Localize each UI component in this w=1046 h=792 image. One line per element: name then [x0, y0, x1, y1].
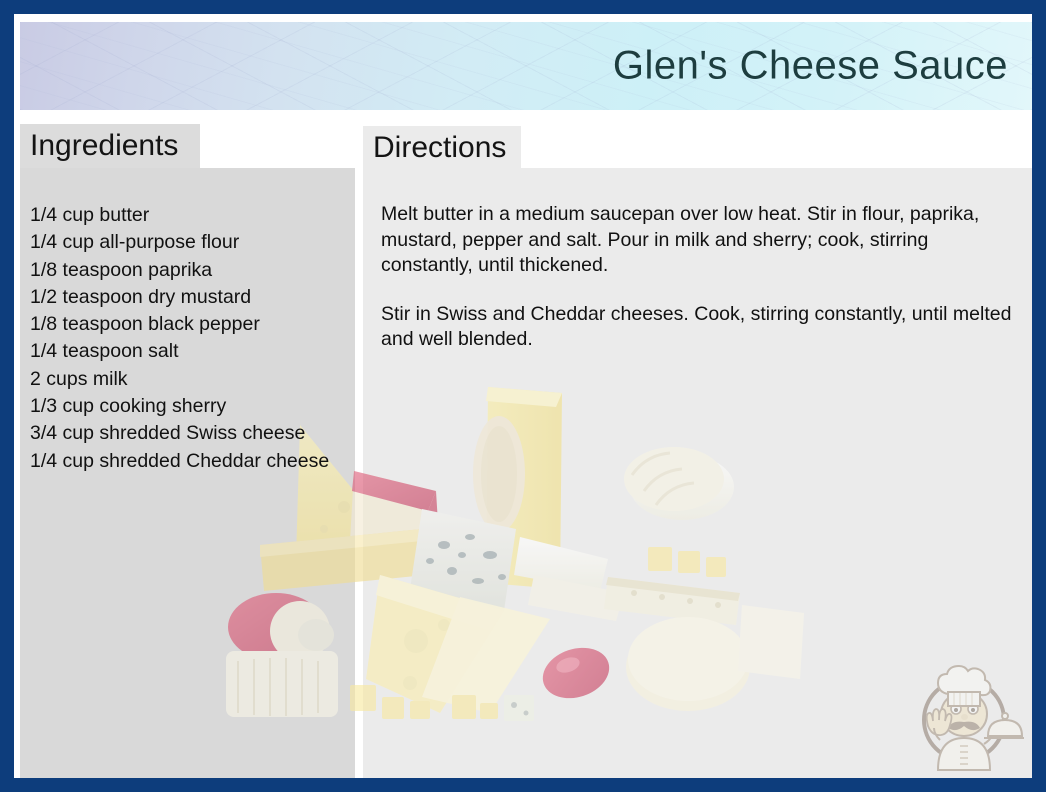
list-item: 1/8 teaspoon paprika	[30, 257, 350, 284]
list-item: 1/4 cup butter	[30, 202, 350, 229]
recipe-slide: Glen's Cheese Sauce Ingredients Directio…	[14, 14, 1032, 778]
directions-heading: Directions	[373, 131, 506, 165]
list-item: 3/4 cup shredded Swiss cheese	[30, 420, 350, 447]
list-item: 1/4 cup shredded Cheddar cheese	[30, 448, 350, 475]
directions-paragraph: Melt butter in a medium saucepan over lo…	[381, 202, 1019, 279]
list-item: 1/4 cup all-purpose flour	[30, 229, 350, 256]
page-title: Glen's Cheese Sauce	[613, 44, 1008, 89]
list-item: 1/4 teaspoon salt	[30, 338, 350, 365]
list-item: 2 cups milk	[30, 366, 350, 393]
tab-ingredients: Ingredients	[20, 124, 200, 168]
chef-mascot-logo	[904, 652, 1024, 772]
list-item: 1/8 teaspoon black pepper	[30, 311, 350, 338]
header-banner: Glen's Cheese Sauce	[20, 22, 1032, 110]
ingredients-heading: Ingredients	[30, 129, 178, 163]
list-item: 1/3 cup cooking sherry	[30, 393, 350, 420]
directions-text: Melt butter in a medium saucepan over lo…	[381, 202, 1019, 353]
directions-paragraph: Stir in Swiss and Cheddar cheeses. Cook,…	[381, 302, 1019, 353]
tab-directions: Directions	[363, 126, 521, 170]
ingredients-panel: 1/4 cup butter 1/4 cup all-purpose flour…	[20, 168, 355, 778]
list-item: 1/2 teaspoon dry mustard	[30, 284, 350, 311]
ingredients-list: 1/4 cup butter 1/4 cup all-purpose flour…	[30, 202, 350, 475]
